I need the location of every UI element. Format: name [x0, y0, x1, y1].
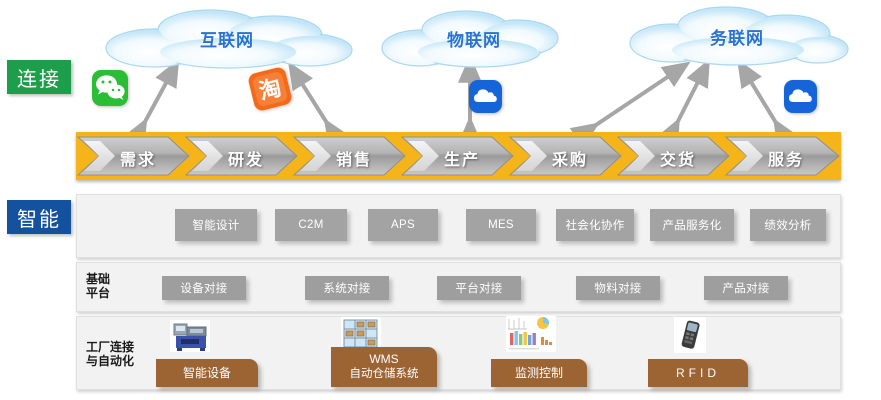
- chip-social-collab[interactable]: 社会化协作: [556, 209, 634, 241]
- cnc-machine-icon: [168, 318, 212, 354]
- wechat-icon[interactable]: [92, 70, 128, 106]
- cloud-iot: 物联网: [378, 8, 570, 68]
- analytics-chart-icon: [505, 315, 557, 353]
- base-platform-title-line1: 基础: [86, 272, 134, 286]
- chip-aps[interactable]: APS: [368, 209, 438, 241]
- cloud-internet-label: 互联网: [98, 8, 356, 68]
- factory-card-smart-equipment[interactable]: 智能设备: [156, 359, 258, 387]
- rfid-handheld-icon: [673, 316, 707, 354]
- chip-product-integration[interactable]: 产品对接: [704, 276, 788, 300]
- base-platform-title-line2: 平台: [86, 286, 134, 300]
- factory-row-title-line2: 与自动化: [86, 354, 166, 368]
- chip-performance[interactable]: 绩效分析: [750, 209, 826, 241]
- cloud-glyph: [784, 80, 817, 113]
- cloud-glyph: [469, 80, 502, 113]
- cloud-icon[interactable]: [469, 80, 502, 113]
- factory-row-title: 工厂连接 与自动化: [86, 340, 166, 368]
- chip-c2m[interactable]: C2M: [275, 209, 347, 241]
- diagram-canvas: 互联网 物联网: [0, 0, 881, 400]
- factory-row-title-line1: 工厂连接: [86, 340, 166, 354]
- chip-system-integration[interactable]: 系统对接: [305, 276, 389, 300]
- base-platform-title: 基础 平台: [86, 272, 134, 300]
- process-step-2[interactable]: 销售: [336, 146, 372, 170]
- process-step-4[interactable]: 采购: [552, 146, 588, 170]
- factory-card-monitoring[interactable]: 监测控制: [491, 359, 587, 387]
- process-step-6[interactable]: 服务: [768, 146, 804, 170]
- chip-platform-integration[interactable]: 平台对接: [437, 276, 521, 300]
- cloud-icon[interactable]: [784, 80, 817, 113]
- chip-smart-design[interactable]: 智能设计: [175, 209, 257, 241]
- cloud-servicenet-label: 务联网: [626, 5, 848, 67]
- cloud-internet: 互联网: [98, 8, 356, 68]
- factory-card-wms[interactable]: WMS 自动仓储系统: [331, 347, 437, 387]
- process-step-0[interactable]: 需求: [120, 146, 156, 170]
- band-connect-text: 连接: [17, 63, 61, 92]
- factory-card-smart-equipment-label: 智能设备: [183, 366, 231, 381]
- process-step-3[interactable]: 生产: [444, 146, 480, 170]
- cloud-servicenet: 务联网: [626, 5, 848, 67]
- factory-card-wms-sublabel: 自动仓储系统: [350, 367, 419, 382]
- band-smart-text: 智能: [17, 203, 61, 232]
- factory-card-wms-label: WMS: [369, 352, 398, 367]
- process-bar: 需求 研发 销售 生产 采购 交货 服务: [76, 132, 841, 180]
- band-label-connect: 连接: [7, 60, 71, 94]
- factory-card-rfid-label: RFID: [676, 366, 720, 381]
- process-step-5[interactable]: 交货: [660, 146, 696, 170]
- process-step-1[interactable]: 研发: [228, 146, 264, 170]
- factory-card-monitoring-label: 监测控制: [515, 366, 563, 381]
- chip-mes[interactable]: MES: [466, 209, 536, 241]
- chip-device-integration[interactable]: 设备对接: [162, 276, 246, 300]
- factory-card-rfid[interactable]: RFID: [648, 359, 748, 387]
- chip-material-integration[interactable]: 物料对接: [576, 276, 660, 300]
- wechat-glyph: [92, 70, 128, 106]
- band-label-smart: 智能: [7, 200, 71, 234]
- cloud-iot-label: 物联网: [378, 8, 570, 68]
- chip-product-service[interactable]: 产品服务化: [650, 209, 734, 241]
